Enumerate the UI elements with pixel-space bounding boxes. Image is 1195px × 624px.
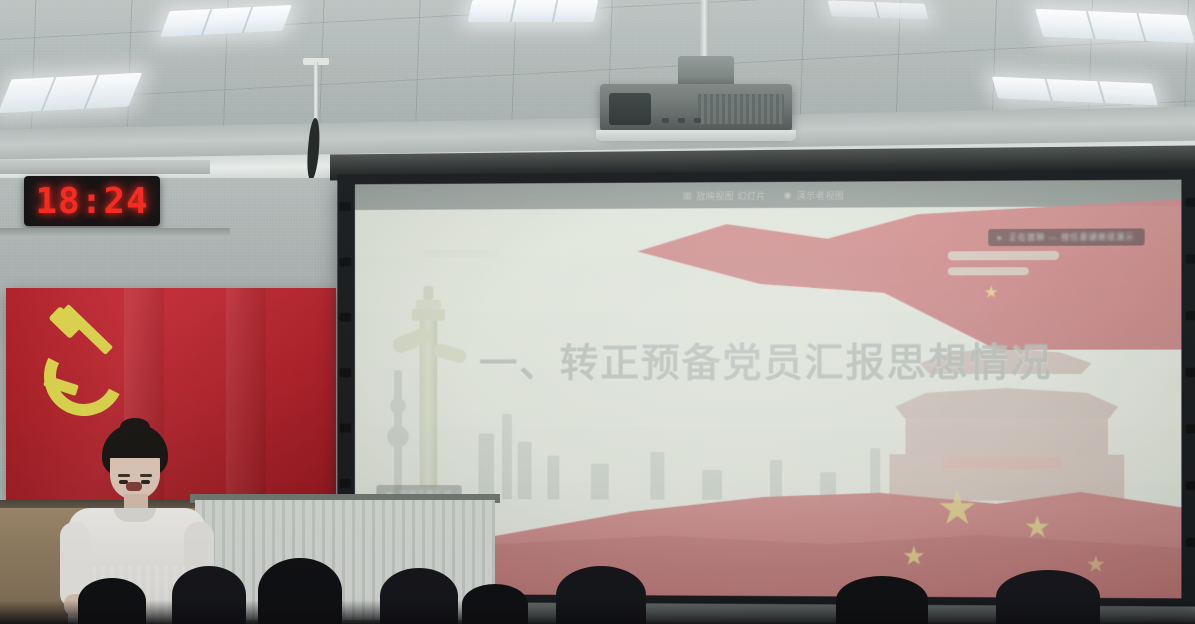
notification-text: 正在放映 — 按任意键继续演示 [1009,231,1134,243]
presenter-mouth [126,482,142,491]
ceiling-hook-rod [314,62,318,124]
slide-cloud-3 [423,249,498,257]
clock-time: 18:24 [35,181,148,222]
projector-lens-icon [609,93,651,125]
ceiling-light-3 [468,0,599,22]
slide-star-icon-3: ★ [902,543,925,569]
projector-base-plate [596,130,796,141]
slide-red-banner [638,198,1182,350]
wall-shelf [0,228,230,238]
projector-indicator-3 [694,118,701,123]
projector-indicator-1 [662,118,669,123]
projector-vent [698,94,784,124]
wall-digital-clock: 18:24 [24,176,160,226]
slide-cloud-2 [948,267,1029,275]
foreground-shadow [0,600,1195,624]
slide-star-icon-4: ★ [1086,553,1106,575]
projector-indicator-2 [678,118,685,123]
slide-title: 一、转正预备党员汇报思想情况 [355,331,1181,388]
slide-notification-bar: ▸ 正在放映 — 按任意键继续演示 [988,228,1145,246]
presenter-fringe [104,432,166,458]
clock-mount-bracket [0,160,210,174]
slide-star-icon-2: ★ [1024,513,1051,543]
photo-scene: 18:24 ▥ 放映视图 幻灯片 [0,0,1195,624]
projector-mount-pole [700,0,709,62]
presenter-view-icon: ◉ [784,190,792,199]
hammer-and-sickle-icon [42,314,128,396]
slide-toolbar-label-1: 放映视图 幻灯片 [696,188,765,201]
slide-cloud-1 [948,251,1059,260]
slide-toolbar-item-2[interactable]: ◉ 演示者视图 [784,188,844,201]
screen-right-tabs [1186,169,1195,606]
ceiling-projector [600,84,792,134]
slide-toolbar-label-2: 演示者视图 [797,188,845,201]
slideshow-view-icon: ▥ [683,191,691,200]
slide-star-icon-1: ★ [936,484,978,530]
slide-toolbar-item-1[interactable]: ▥ 放映视图 幻灯片 [683,188,766,201]
slide-star-icon-top: ★ [984,285,999,301]
slide-toolbar: ▥ 放映视图 幻灯片 ◉ 演示者视图 [355,180,1181,210]
notification-glyph: ▸ [998,233,1003,242]
